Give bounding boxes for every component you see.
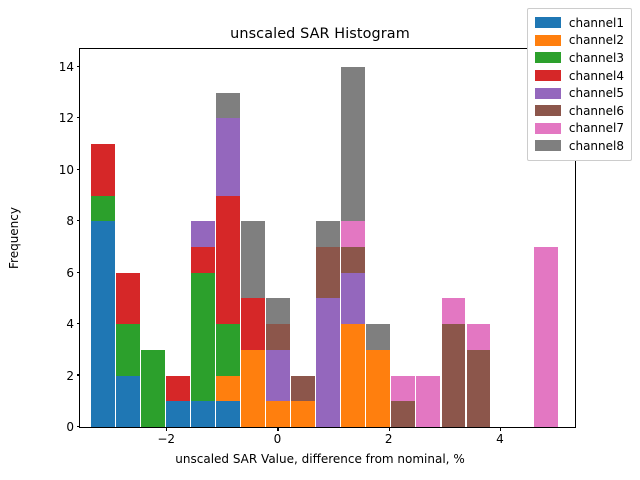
legend-item-channel4[interactable]: channel4 [535, 67, 624, 85]
y-tick-label: 12 [59, 111, 74, 125]
bar-segment-channel5 [216, 118, 240, 195]
legend-item-label: channel7 [569, 121, 624, 135]
bar-segment-channel4 [166, 376, 190, 402]
y-tick [77, 169, 81, 170]
bar-segment-channel1 [116, 376, 140, 427]
histogram-bar [116, 273, 140, 427]
bar-segment-channel7 [534, 247, 558, 427]
bar-segment-channel2 [291, 401, 315, 427]
legend-item-label: channel4 [569, 69, 624, 83]
y-tick-label: 10 [59, 163, 74, 177]
x-tick-label: −2 [157, 432, 175, 446]
y-tick [77, 374, 81, 375]
legend-item-label: channel6 [569, 104, 624, 118]
histogram-bar [241, 221, 265, 427]
histogram-bar [391, 376, 415, 427]
bar-segment-channel4 [241, 298, 265, 349]
y-tick [77, 272, 81, 273]
legend-item-label: channel2 [569, 33, 624, 47]
x-tick [277, 427, 278, 431]
bar-segment-channel6 [442, 324, 466, 427]
bar-segment-channel2 [341, 324, 365, 427]
bar-segment-channel2 [366, 350, 390, 427]
legend-swatch-icon [535, 123, 561, 134]
legend-swatch-icon [535, 88, 561, 99]
figure-canvas: unscaled SAR Histogram Frequency unscale… [0, 0, 640, 480]
histogram-bar [442, 298, 466, 427]
legend-swatch-icon [535, 105, 561, 116]
bar-segment-channel5 [341, 273, 365, 324]
x-tick [389, 427, 390, 431]
histogram-bar [191, 221, 215, 427]
legend-swatch-icon [535, 70, 561, 81]
y-tick [77, 426, 81, 427]
bar-segment-channel8 [316, 221, 340, 247]
y-tick-label: 6 [66, 266, 74, 280]
histogram-bar [216, 93, 240, 427]
x-tick [166, 427, 167, 431]
bar-segment-channel2 [266, 401, 290, 427]
y-tick [77, 220, 81, 221]
legend-swatch-icon [535, 52, 561, 63]
legend-item-label: channel8 [569, 139, 624, 153]
histogram-bar [534, 247, 558, 427]
bar-segment-channel5 [191, 221, 215, 247]
histogram-bar [341, 67, 365, 427]
x-axis-title: unscaled SAR Value, difference from nomi… [0, 452, 640, 466]
y-tick-label: 4 [66, 317, 74, 331]
bar-segment-channel4 [91, 144, 115, 195]
legend-item-channel1[interactable]: channel1 [535, 14, 624, 32]
bar-segment-channel1 [216, 401, 240, 427]
histogram-bar [467, 324, 491, 427]
bar-segment-channel6 [391, 401, 415, 427]
histogram-bar [166, 376, 190, 427]
histogram-bar [91, 144, 115, 427]
bar-segment-channel6 [316, 247, 340, 298]
legend-item-channel5[interactable]: channel5 [535, 84, 624, 102]
bar-segment-channel2 [216, 376, 240, 402]
y-tick-label: 8 [66, 214, 74, 228]
y-tick [77, 117, 81, 118]
bar-segment-channel7 [442, 298, 466, 324]
legend-item-label: channel3 [569, 51, 624, 65]
histogram-bar [316, 221, 340, 427]
bar-segment-channel4 [116, 273, 140, 324]
x-tick [500, 427, 501, 431]
bar-segment-channel7 [467, 324, 491, 350]
plot-area: 02468101214 −2024 [79, 48, 576, 428]
bar-segment-channel6 [341, 247, 365, 273]
y-tick-label: 0 [66, 420, 74, 434]
bar-segment-channel7 [341, 221, 365, 247]
bar-segment-channel8 [216, 93, 240, 119]
bar-segment-channel3 [91, 196, 115, 222]
x-tick-label: 0 [274, 432, 282, 446]
y-axis-title: Frequency [7, 207, 21, 269]
bar-segment-channel8 [366, 324, 390, 350]
histogram-bar [266, 298, 290, 427]
histogram-bar [416, 376, 440, 427]
bar-segment-channel1 [166, 401, 190, 427]
legend-swatch-icon [535, 140, 561, 151]
bar-segment-channel7 [391, 376, 415, 402]
bar-segment-channel5 [316, 298, 340, 427]
bar-segment-channel3 [116, 324, 140, 375]
legend-swatch-icon [535, 35, 561, 46]
bar-segment-channel3 [191, 273, 215, 402]
histogram-bar [141, 350, 165, 427]
bar-segment-channel3 [141, 350, 165, 427]
legend-item-label: channel5 [569, 86, 624, 100]
legend: channel1channel2channel3channel4channel5… [527, 8, 632, 161]
bar-segment-channel7 [416, 376, 440, 427]
bar-segment-channel3 [216, 324, 240, 375]
x-tick-label: 2 [385, 432, 393, 446]
legend-item-channel3[interactable]: channel3 [535, 49, 624, 67]
bar-segment-channel8 [341, 67, 365, 221]
histogram-bar [366, 324, 390, 427]
legend-item-channel7[interactable]: channel7 [535, 120, 624, 138]
legend-item-channel8[interactable]: channel8 [535, 137, 624, 155]
bar-segment-channel4 [216, 196, 240, 325]
bar-segment-channel4 [191, 247, 215, 273]
bar-segment-channel8 [241, 221, 265, 298]
legend-swatch-icon [535, 17, 561, 28]
bar-segment-channel1 [91, 221, 115, 427]
y-tick-label: 14 [59, 60, 74, 74]
legend-item-channel2[interactable]: channel2 [535, 32, 624, 50]
y-tick [77, 323, 81, 324]
bars-layer [80, 49, 575, 427]
x-tick-label: 4 [496, 432, 504, 446]
bar-segment-channel6 [266, 324, 290, 350]
histogram-bar [291, 376, 315, 427]
legend-item-label: channel1 [569, 16, 624, 30]
y-tick [77, 66, 81, 67]
bar-segment-channel2 [241, 350, 265, 427]
y-tick-label: 2 [66, 369, 74, 383]
bar-segment-channel8 [266, 298, 290, 324]
bar-segment-channel6 [467, 350, 491, 427]
legend-item-channel6[interactable]: channel6 [535, 102, 624, 120]
bar-segment-channel6 [291, 376, 315, 402]
bar-segment-channel1 [191, 401, 215, 427]
bar-segment-channel5 [266, 350, 290, 401]
